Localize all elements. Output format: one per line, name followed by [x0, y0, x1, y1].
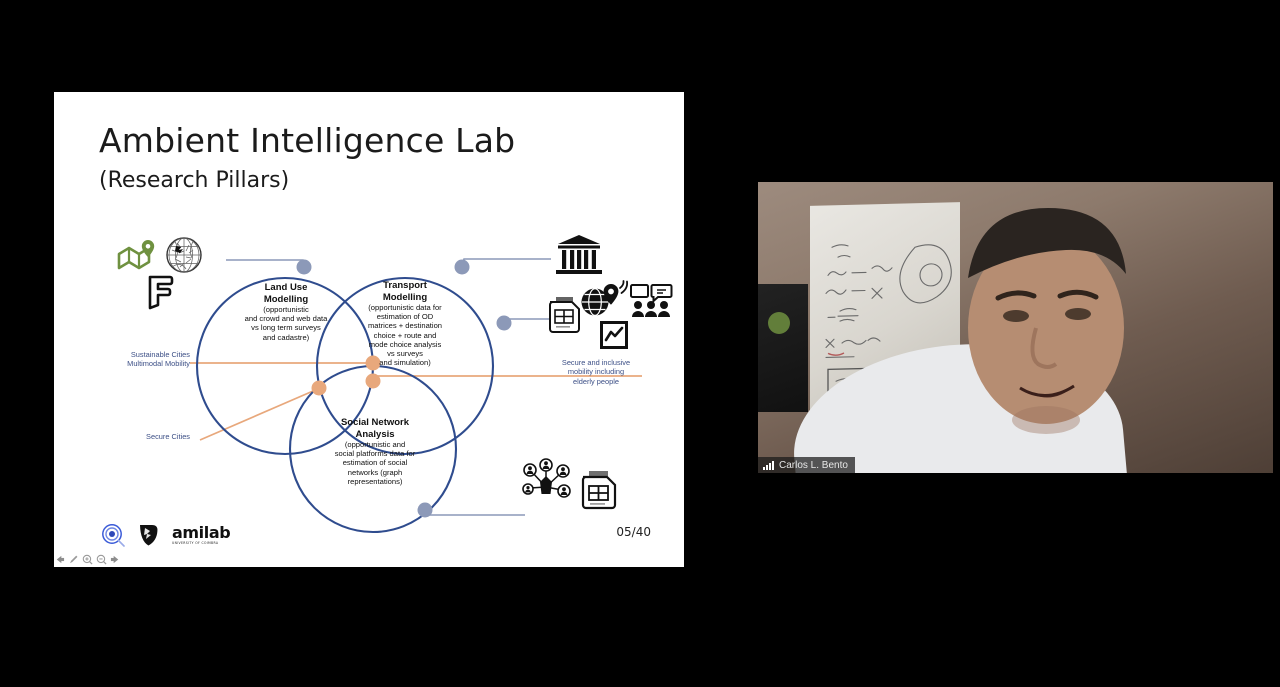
sustainable-cities-line1: Sustainable Cities [90, 350, 190, 359]
label-social-network-analysis: Social Network Analysis (opportunistic a… [302, 417, 448, 486]
people-meeting-icon [631, 285, 672, 317]
foursquare-logo-icon [150, 277, 172, 308]
bank-institution-icon [556, 235, 602, 274]
zoom-in-icon[interactable] [82, 554, 93, 565]
participant-video-tile[interactable]: Carlos L. Bento [758, 182, 1273, 473]
side-label-secure-cities: Secure Cities [100, 432, 190, 441]
transport-body-2: matrices + destination [338, 321, 472, 330]
sustainable-cities-line2: Multimodal Mobility [90, 359, 190, 368]
signal-bars-icon [763, 461, 774, 470]
wall-poster [758, 284, 808, 412]
social-body-0: (opportunistic and [302, 440, 448, 449]
transport-body-6: and simulation) [338, 358, 472, 367]
transport-body-0: (opportunistic data for [338, 303, 472, 312]
social-body-2: estimation of social [302, 458, 448, 467]
participant-face [928, 188, 1180, 473]
side-label-sustainable-cities: Sustainable Cities Multimodal Mobility [90, 350, 190, 369]
globe-gps-pin-icon [582, 281, 628, 316]
transport-body-4: mode choice analysis [338, 340, 472, 349]
transport-body-3: choice + route and [338, 331, 472, 340]
amilab-wordmark: amilab UNIVERSITY OF COIMBRA [172, 525, 230, 545]
transport-body-5: vs surveys [338, 349, 472, 358]
social-body-3: networks (graph [302, 468, 448, 477]
next-slide-arrow-icon[interactable] [110, 554, 121, 565]
sim-card-icon-2 [583, 471, 615, 508]
secure-mobility-line3: elderly people [546, 377, 646, 386]
wordmark-subtext: UNIVERSITY OF COIMBRA [172, 542, 230, 545]
social-heading-line1: Social Network [302, 417, 448, 429]
transport-heading-line2: Modelling [338, 292, 472, 304]
zoom-out-icon[interactable] [96, 554, 107, 565]
social-body-4: representations) [302, 477, 448, 486]
wikipedia-globe-icon [167, 238, 201, 272]
participant-name-badge: Carlos L. Bento [758, 457, 855, 473]
secure-mobility-line1: Secure and inclusive [546, 358, 646, 367]
social-heading-line2: Analysis [302, 429, 448, 441]
wordmark-text: amilab [172, 525, 230, 541]
sim-card-icon [550, 297, 579, 332]
social-body-1: social platforms data for [302, 449, 448, 458]
transport-body-1: estimation of OD [338, 312, 472, 321]
secure-cities-text: Secure Cities [100, 432, 190, 441]
slide-page-number: 05/40 [616, 525, 651, 539]
side-label-secure-inclusive-mobility: Secure and inclusive mobility including … [546, 358, 646, 386]
shared-slide[interactable]: Ambient Intelligence Lab (Research Pilla… [54, 92, 684, 567]
folded-map-pin-icon [119, 240, 154, 268]
amilab-shield-icon [139, 524, 158, 546]
slide-annotation-toolbar[interactable] [54, 552, 121, 566]
meeting-stage: Ambient Intelligence Lab (Research Pilla… [0, 0, 1280, 687]
social-graph-icon [523, 459, 570, 497]
transport-heading-line1: Transport [338, 280, 472, 292]
pen-annotate-icon[interactable] [68, 554, 79, 565]
blue-spiral-logo-icon [101, 523, 125, 547]
participant-name: Carlos L. Bento [779, 460, 848, 471]
secure-mobility-line2: mobility including [546, 367, 646, 376]
prev-slide-arrow-icon[interactable] [54, 554, 65, 565]
footer-logos: amilab UNIVERSITY OF COIMBRA [101, 523, 230, 547]
line-chart-icon [600, 321, 628, 349]
label-transport-modelling: Transport Modelling (opportunistic data … [338, 280, 472, 367]
